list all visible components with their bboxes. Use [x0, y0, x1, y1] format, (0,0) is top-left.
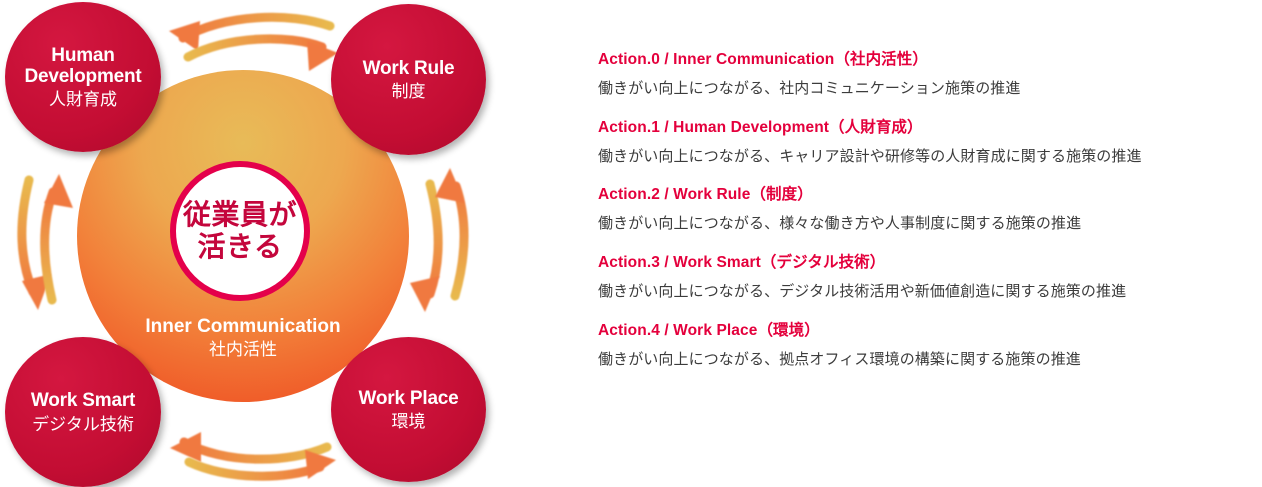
action-title-3: Action.3 / Work Smart（デジタル技術）: [598, 253, 1253, 273]
node-work-place-label-en: Work Place: [358, 388, 458, 409]
node-work-smart[interactable]: Work Smart デジタル技術: [5, 337, 161, 487]
action-item-4: Action.4 / Work Place（環境） 働きがい向上につながる、拠点…: [598, 321, 1253, 370]
action-title-0: Action.0 / Inner Communication（社内活性）: [598, 50, 1253, 70]
node-work-place-label-ja: 環境: [392, 412, 426, 431]
action-item-3: Action.3 / Work Smart（デジタル技術） 働きがい向上につなが…: [598, 253, 1253, 302]
node-work-smart-label-ja: デジタル技術: [32, 415, 134, 434]
action-title-2: Action.2 / Work Rule（制度）: [598, 185, 1253, 205]
action-item-0: Action.0 / Inner Communication（社内活性） 働きが…: [598, 50, 1253, 99]
center-circle-text: 従業員が 活きる: [183, 199, 297, 264]
center-text-line2: 活きる: [183, 231, 297, 263]
node-human-development[interactable]: Human Development 人財育成: [5, 2, 161, 152]
node-work-place[interactable]: Work Place 環境: [331, 337, 486, 482]
node-work-rule-label-en: Work Rule: [363, 58, 455, 79]
center-text-line1: 従業員が: [183, 199, 297, 231]
action-item-2: Action.2 / Work Rule（制度） 働きがい向上につながる、様々な…: [598, 185, 1253, 234]
action-title-4: Action.4 / Work Place（環境）: [598, 321, 1253, 341]
arrow-bottom-left: [170, 432, 327, 462]
node-work-smart-label-en: Work Smart: [31, 390, 135, 411]
arrow-top-right: [188, 39, 338, 71]
node-work-rule-label-ja: 制度: [392, 82, 426, 101]
action-item-1: Action.1 / Human Development（人財育成） 働きがい向…: [598, 118, 1253, 167]
node-human-development-label-en: Human Development: [5, 45, 161, 88]
node-human-development-label-ja: 人財育成: [49, 90, 117, 109]
action-description-2: 働きがい向上につながる、様々な働き方や人事制度に関する施策の推進: [598, 214, 1253, 234]
action-description-0: 働きがい向上につながる、社内コミュニケーション施策の推進: [598, 79, 1253, 99]
arrow-right-down: [410, 184, 440, 312]
action-description-3: 働きがい向上につながる、デジタル技術活用や新価値創造に関する施策の推進: [598, 282, 1253, 302]
node-work-rule[interactable]: Work Rule 制度: [331, 4, 486, 155]
action-description-4: 働きがい向上につながる、拠点オフィス環境の構築に関する施策の推進: [598, 350, 1253, 370]
action-title-1: Action.1 / Human Development（人財育成）: [598, 118, 1253, 138]
center-circle: 従業員が 活きる: [170, 161, 310, 301]
action-list: Action.0 / Inner Communication（社内活性） 働きが…: [598, 50, 1253, 369]
inner-communication-cycle-diagram: Inner Communication 社内活性 従業員が 活きる Human …: [0, 0, 520, 482]
infographic-page: Inner Communication 社内活性 従業員が 活きる Human …: [0, 0, 1262, 482]
inner-communication-label-ja: 社内活性: [143, 340, 343, 359]
inner-communication-label-en: Inner Communication: [143, 316, 343, 337]
arrow-left-up: [44, 174, 73, 300]
action-description-1: 働きがい向上につながる、キャリア設計や研修等の人財育成に関する施策の推進: [598, 147, 1253, 167]
inner-communication-caption: Inner Communication 社内活性: [143, 316, 343, 359]
